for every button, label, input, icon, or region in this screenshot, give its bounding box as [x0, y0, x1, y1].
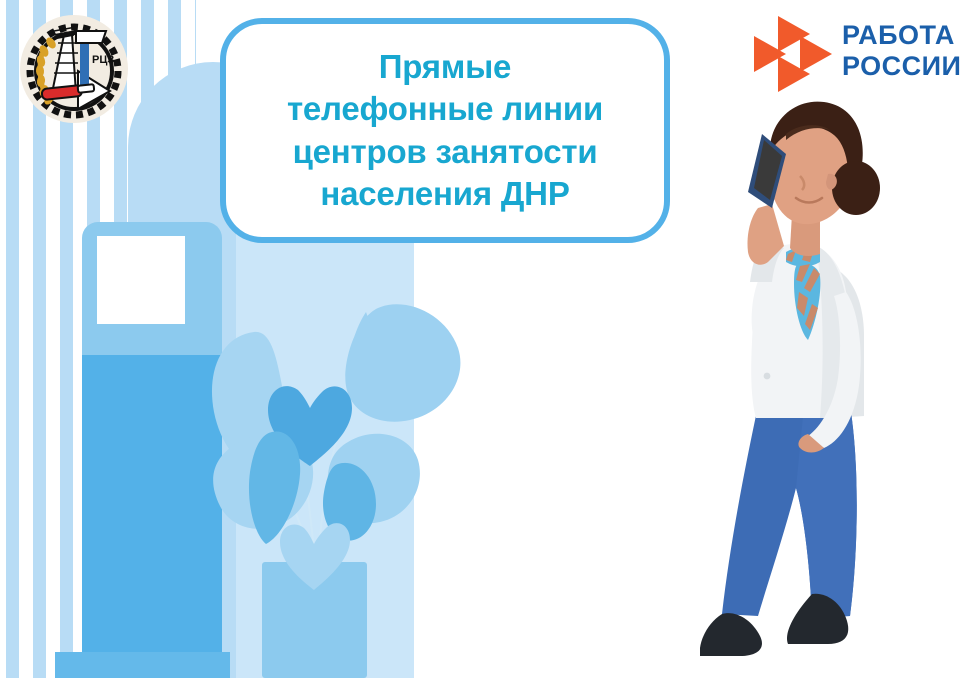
woman-shoe-front — [700, 613, 762, 656]
terminal-base — [55, 652, 230, 678]
four-triangles-mark-icon — [752, 14, 834, 94]
hammer-icon — [76, 31, 106, 43]
rabota-rossii-wordmark: РАБОТА РОССИИ — [842, 20, 960, 82]
brand-line-1: РАБОТА — [842, 20, 960, 51]
title-line-3: центров занятости — [287, 131, 603, 173]
terminal-screen — [97, 236, 185, 324]
dnr-employment-center-emblem: РЦЗ — [18, 13, 130, 125]
poster-canvas: РЦЗ Прямые телефонные линии центров заня… — [0, 0, 960, 678]
title-line-1: Прямые — [287, 46, 603, 88]
potted-plant-illustration — [210, 300, 470, 678]
brand-line-2: РОССИИ — [842, 51, 960, 82]
title-card: Прямые телефонные линии центров занятост… — [220, 18, 670, 243]
triangle-right — [800, 36, 832, 72]
terminal-lower-panel — [82, 355, 222, 652]
title-line-2: телефонные линии — [287, 88, 603, 130]
woman-on-phone-illustration — [700, 96, 950, 671]
poster-title: Прямые телефонные линии центров занятост… — [273, 46, 617, 215]
emblem-abbreviation: РЦЗ — [92, 54, 114, 66]
title-line-4: населения ДНР — [287, 173, 603, 215]
woman-hair-bun — [832, 161, 880, 215]
rabota-rossii-logo: РАБОТА РОССИИ — [752, 14, 952, 94]
